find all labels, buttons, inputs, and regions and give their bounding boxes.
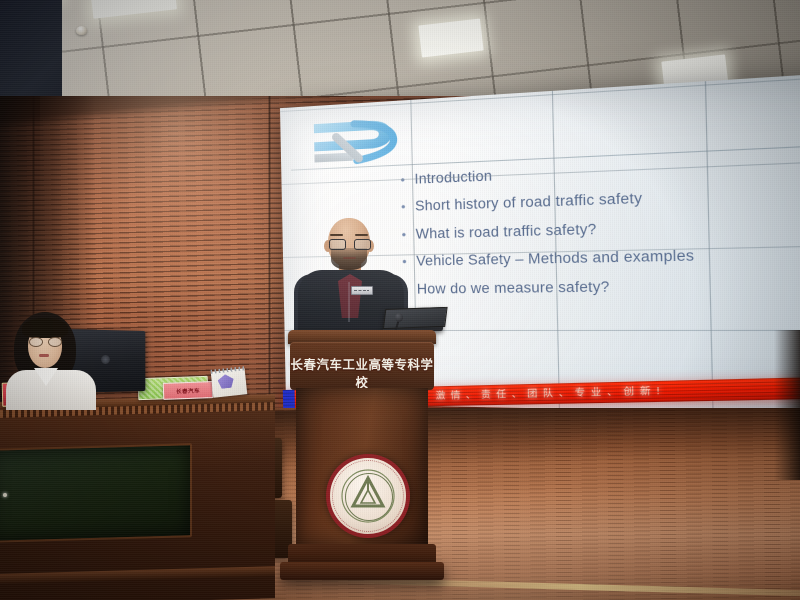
- presenter-mouth: [343, 257, 356, 259]
- podium-school-name: 长春汽车工业高等专科学校: [290, 355, 434, 391]
- attendee-mouth: [39, 354, 49, 357]
- speaker-podium: 长春汽车工业高等专科学校: [288, 330, 436, 600]
- table-recessed-panel: [0, 443, 192, 543]
- right-edge-shadow: [774, 330, 800, 480]
- presenter-name-badge: [351, 286, 373, 295]
- school-emblem-icon: [326, 454, 410, 538]
- glasses-icon: [329, 239, 369, 248]
- podium-plinth: [280, 562, 444, 580]
- spiral-notebook: [211, 368, 248, 397]
- podium-body: [296, 388, 428, 546]
- microphone-head: [395, 313, 403, 322]
- wall-panel-seam: [268, 96, 271, 426]
- presenter-beard: [331, 248, 367, 270]
- podium-front-panel: 长春汽车工业高等专科学校: [290, 342, 434, 390]
- attendee-fringe: [22, 318, 68, 338]
- presenter-jacket-zip: [348, 282, 350, 322]
- table-specular-highlight: [3, 493, 7, 497]
- glasses-icon: [29, 337, 60, 345]
- lecture-hall-photo: • Introduction • Short history of road t…: [0, 0, 800, 600]
- smoke-detector-icon: [76, 26, 87, 35]
- presenter-shirt: [338, 274, 362, 318]
- laptop-screen: [383, 307, 448, 329]
- front-panel-table: [0, 398, 275, 600]
- attendee-person: [6, 312, 98, 406]
- green-nameplate-card: 长春汽车: [163, 381, 214, 400]
- notebook-cover-graphic: [217, 374, 234, 390]
